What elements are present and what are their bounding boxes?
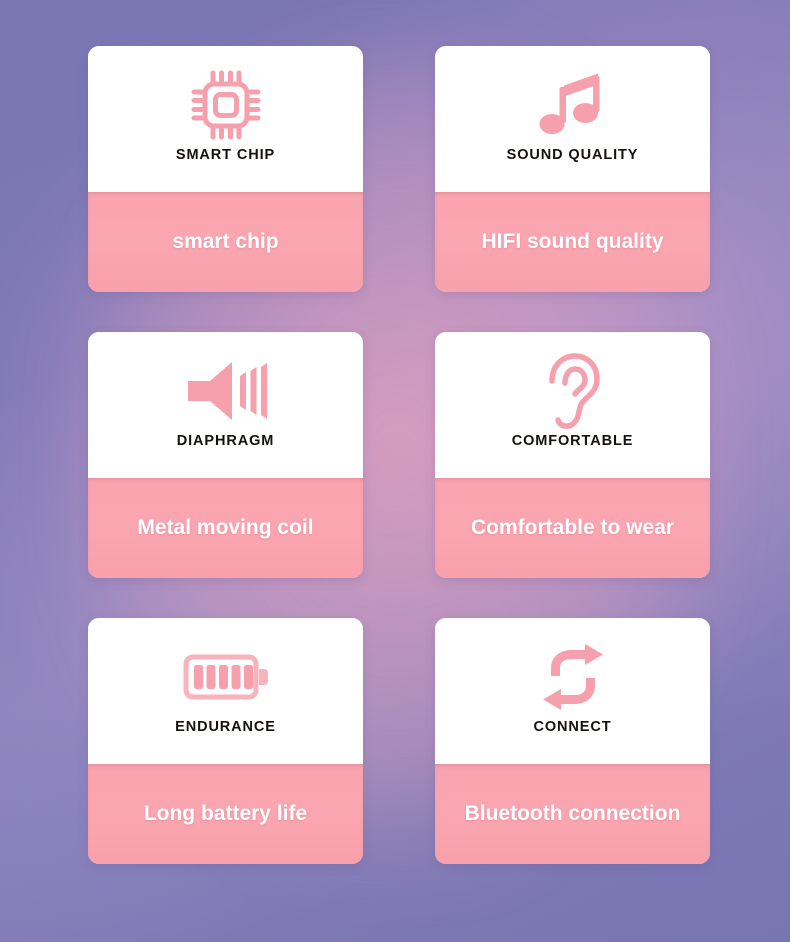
feature-card-connect[interactable]: CONNECT Bluetooth connection — [435, 618, 710, 864]
feature-grid-page: SMART CHIP smart chip SOUND QUALITY — [0, 0, 790, 942]
feature-card-sound-quality[interactable]: SOUND QUALITY HIFI sound quality — [435, 46, 710, 292]
card-title: CONNECT — [534, 720, 612, 735]
card-caption: Metal moving coil — [129, 516, 321, 540]
card-caption: Long battery life — [136, 802, 315, 826]
feature-card-endurance[interactable]: ENDURANCE Long battery life — [88, 618, 363, 864]
feature-card-grid: SMART CHIP smart chip SOUND QUALITY — [88, 46, 710, 864]
music-note-icon — [538, 62, 608, 148]
speaker-icon — [184, 348, 268, 434]
card-top-section: SOUND QUALITY — [435, 46, 710, 192]
card-title: SOUND QUALITY — [507, 148, 639, 163]
card-caption: Bluetooth connection — [457, 802, 689, 826]
card-top-section: COMFORTABLE — [435, 332, 710, 478]
card-bottom-section: Comfortable to wear — [435, 478, 710, 578]
card-bottom-section: Long battery life — [88, 764, 363, 864]
card-title: SMART CHIP — [176, 148, 275, 163]
card-title: ENDURANCE — [175, 720, 276, 735]
card-title: COMFORTABLE — [512, 434, 634, 449]
feature-card-smart-chip[interactable]: SMART CHIP smart chip — [88, 46, 363, 292]
feature-card-diaphragm[interactable]: DIAPHRAGM Metal moving coil — [88, 332, 363, 578]
card-caption: HIFI sound quality — [474, 230, 672, 254]
ear-icon — [542, 348, 604, 434]
card-top-section: ENDURANCE — [88, 618, 363, 764]
card-top-section: SMART CHIP — [88, 46, 363, 192]
card-top-section: DIAPHRAGM — [88, 332, 363, 478]
card-caption: smart chip — [164, 230, 286, 254]
card-bottom-section: Bluetooth connection — [435, 764, 710, 864]
card-bottom-section: HIFI sound quality — [435, 192, 710, 292]
chip-icon — [187, 62, 265, 148]
card-bottom-section: smart chip — [88, 192, 363, 292]
sync-arrows-icon — [537, 634, 609, 720]
feature-card-comfortable[interactable]: COMFORTABLE Comfortable to wear — [435, 332, 710, 578]
card-title: DIAPHRAGM — [177, 434, 275, 449]
card-bottom-section: Metal moving coil — [88, 478, 363, 578]
card-caption: Comfortable to wear — [463, 516, 682, 540]
battery-icon — [183, 634, 269, 720]
card-top-section: CONNECT — [435, 618, 710, 764]
